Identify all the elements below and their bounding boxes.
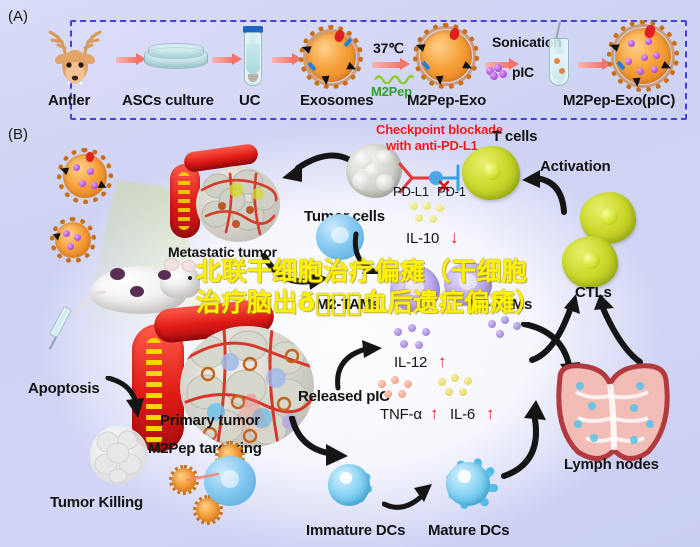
- il12-dot-cluster-right: [488, 316, 528, 344]
- panel-b-letter: (B): [8, 126, 28, 143]
- panel-b-label-ctls: CTLs: [575, 284, 612, 301]
- syringe-needle-icon: [49, 336, 57, 349]
- panel-b-label-mature-dcs: Mature DCs: [428, 522, 509, 539]
- mature-dc-icon: [428, 444, 508, 524]
- targeting-exosome-icon-2: [172, 468, 196, 492]
- il12-dot-cluster: [394, 324, 438, 354]
- panel-b-cytokine-il10-arrow: ↓: [450, 228, 458, 248]
- sonicator-tube-icon: [546, 28, 572, 90]
- panel-b-cytokine-il6-arrow: ↑: [486, 404, 494, 424]
- panel-b-cytokine-il12-arrow: ↑: [438, 352, 446, 372]
- panel-b-label-lymph-nodes: Lymph nodes: [564, 456, 659, 473]
- metastatic-tumor-illustration: [168, 142, 290, 246]
- process-arrow-3: [272, 55, 302, 64]
- panel-a-label-antler: Antler: [48, 92, 90, 109]
- immature-dc-icon: [312, 448, 386, 522]
- panel-b-cytokine-il10-label: IL-10: [406, 230, 439, 247]
- pic-dot-cluster-icon: [486, 64, 508, 80]
- overlay-line-1: 北联干细胞治疗偏瘫（干细胞: [196, 258, 526, 288]
- lymph-node-illustration: [548, 362, 678, 466]
- panel-b-cytokine-tnfa-arrow: ↑: [430, 404, 438, 424]
- panel-b-label-pdl1: PD-L1: [393, 184, 429, 199]
- panel-b-label-checkpoint-blockade: Checkpoint blockade: [376, 122, 503, 137]
- panel-a-label-m2pep-exo: M2Pep-Exo: [407, 92, 486, 109]
- free-exosome-icon-1: [63, 154, 107, 198]
- overlay-broken-glyphs: ð   : [298, 288, 362, 318]
- il10-dot-cluster: [410, 202, 450, 230]
- process-arrow-1: [116, 55, 146, 64]
- panel-a-label-uc: UC: [239, 92, 260, 109]
- syringe-icon: [49, 306, 72, 338]
- t-cell-icon-engaged: [462, 146, 520, 200]
- m2pep-squiggle-icon: [374, 72, 414, 84]
- panel-b-cytokine-il12-label: IL-12: [394, 354, 427, 371]
- process-arrow-2: [212, 55, 242, 64]
- target-macrophage-icon: [204, 456, 256, 506]
- panel-b-cytokine-tnfa-label: TNF-α: [380, 406, 422, 423]
- overlay-watermark-text: 北联干细胞治疗偏瘫（干细胞 治疗脑出ð   血后遗症偏瘫）: [196, 258, 526, 318]
- panel-b-label-released-pic: Released pIC: [298, 388, 390, 405]
- panel-a-annotation-m2pep: M2Pep: [371, 84, 412, 99]
- macrophage-icon: [316, 214, 364, 260]
- ctl-cell-icon-2: [562, 236, 618, 288]
- panel-a-letter: (A): [8, 8, 28, 25]
- overlay-line-2-part-b: 血后遗症偏瘫）: [362, 289, 541, 317]
- exosome-peptide-icon: [420, 30, 472, 82]
- deer-icon: [36, 26, 114, 88]
- panel-a-annotation-temperature: 37℃: [373, 40, 404, 57]
- panel-b-label-immature-dcs: Immature DCs: [306, 522, 405, 539]
- panel-b-label-t-cells: T cells: [492, 128, 537, 145]
- centrifuge-tube-icon: [242, 26, 264, 88]
- apoptotic-cell-icon: [90, 426, 148, 484]
- panel-b-label-anti-pdl1: with anti-PD-L1: [386, 138, 478, 153]
- panel-b: (B): [0, 126, 700, 547]
- panel-a-label-exosomes: Exosomes: [300, 92, 373, 109]
- primary-tumor-illustration: [132, 302, 322, 454]
- overlay-line-2: 治疗脑出ð   血后遗症偏瘫）: [196, 288, 526, 319]
- panel-a: (A) Antler: [0, 0, 700, 128]
- arrow-to-ctls-right: [588, 294, 650, 366]
- petri-dish-icon: [144, 43, 208, 73]
- exosome-icon: [306, 32, 356, 82]
- figure-root: (A) Antler: [0, 0, 700, 547]
- panel-a-label-ascs: ASCs culture: [122, 92, 214, 109]
- exosome-loaded-icon: [615, 28, 671, 84]
- panel-b-label-apoptosis: Apoptosis: [28, 380, 100, 397]
- process-arrow-4: [372, 60, 410, 69]
- panel-b-label-activation: Activation: [540, 158, 611, 175]
- overlay-line-2-part-a: 治疗脑出: [196, 289, 298, 317]
- panel-b-label-pd1: PD-1: [437, 184, 466, 199]
- panel-a-annotation-pic: pIC: [512, 64, 534, 80]
- tnfa-dot-cluster: [378, 376, 418, 402]
- panel-b-label-tumor-killing: Tumor Killing: [50, 494, 143, 511]
- il6-dot-cluster: [438, 374, 478, 400]
- panel-b-label-primary-tumor: Primary tumor: [160, 412, 260, 429]
- panel-b-cytokine-il6-label: IL-6: [450, 406, 475, 423]
- panel-a-label-m2pep-exo-pic: M2Pep-Exo(pIC): [563, 92, 675, 109]
